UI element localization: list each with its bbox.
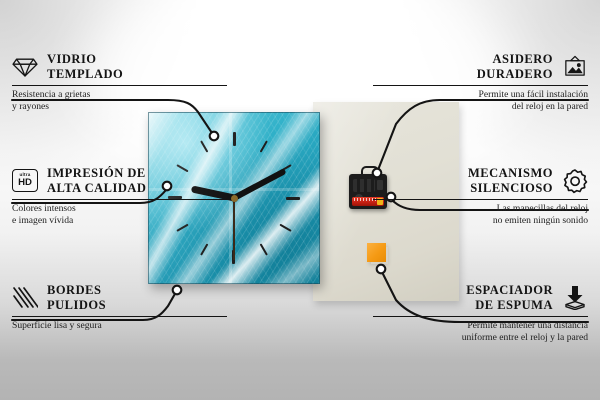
callout-subtitle: Permite mantener una distancia uniforme … [373, 320, 588, 343]
callout-title: ESPACIADOR DE ESPUMA [466, 283, 553, 312]
down-arrow-pad-icon [562, 285, 588, 311]
movement-housing-detail [353, 179, 375, 192]
callout-mecanismo-silencioso: MECANISMO SILENCIOSO Las manecillas del … [373, 166, 588, 226]
callout-subtitle: Las manecillas del reloj no emiten ningú… [373, 203, 588, 226]
callout-title: IMPRESIÓN DE ALTA CALIDAD [47, 166, 146, 195]
callout-asidero-duradero: ASIDERO DURADERO Permite una fácil insta… [373, 52, 588, 112]
callout-subtitle: Resistencia a grietas y rayones [12, 89, 227, 112]
callout-impresion-alta-calidad: ultra HD IMPRESIÓN DE ALTA CALIDAD Color… [12, 166, 227, 226]
callout-subtitle: Superficie lisa y segura [12, 320, 227, 332]
callout-vidrio-templado: VIDRIO TEMPLADO Resistencia a grietas y … [12, 52, 227, 112]
callout-title: BORDES PULIDOS [47, 283, 106, 312]
ultra-hd-badge-icon: ultra HD [12, 168, 38, 194]
callout-espaciador-de-espuma: ESPACIADOR DE ESPUMA Permite mantener un… [373, 283, 588, 343]
diamond-icon [12, 54, 38, 80]
callout-rule [12, 316, 227, 317]
framed-picture-icon [562, 54, 588, 80]
foam-spacer [367, 243, 386, 262]
ultra-hd-large-text: HD [18, 178, 32, 188]
callout-subtitle: Permite una fácil instalación del reloj … [373, 89, 588, 112]
callout-title: ASIDERO DURADERO [477, 52, 553, 81]
infographic-canvas: VIDRIO TEMPLADO Resistencia a grietas y … [0, 0, 600, 400]
callout-title: VIDRIO TEMPLADO [47, 52, 123, 81]
callout-subtitle: Colores intensos e imagen vívida [12, 203, 227, 226]
gear-icon [562, 168, 588, 194]
callout-rule [373, 85, 588, 86]
callout-rule [373, 199, 588, 200]
callout-rule [373, 316, 588, 317]
callout-title: MECANISMO SILENCIOSO [468, 166, 553, 195]
callout-rule [12, 199, 227, 200]
diagonal-lines-icon [12, 285, 38, 311]
callout-rule [12, 85, 227, 86]
callout-bordes-pulidos: BORDES PULIDOS Superficie lisa y segura [12, 283, 227, 332]
